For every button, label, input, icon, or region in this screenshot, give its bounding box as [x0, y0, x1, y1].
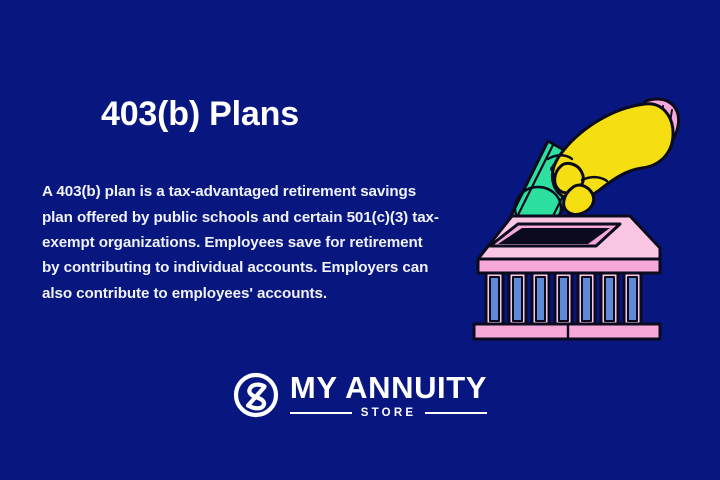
- illustration-svg: $: [460, 96, 690, 341]
- column-shaft-5: [582, 277, 591, 321]
- logo-wordmark: MY ANNUITY: [290, 372, 487, 404]
- body-paragraph: A 403(b) plan is a tax-advantaged retire…: [42, 179, 442, 306]
- logo-rule-right: [425, 412, 487, 414]
- column-shaft-2: [513, 277, 522, 321]
- logo-subtext-row: STORE: [290, 407, 487, 419]
- hand-depositing-money-illustration: $: [460, 96, 690, 341]
- column-shaft-4: [559, 277, 568, 321]
- monogram-svg: [233, 372, 279, 418]
- page-title: 403(b) Plans: [101, 97, 299, 131]
- column-shaft-7: [628, 277, 637, 321]
- column-shaft-1: [490, 277, 499, 321]
- brand-logo-lockup[interactable]: MY ANNUITY STORE: [0, 372, 720, 419]
- logo-subtext: STORE: [352, 407, 425, 419]
- hand-group: [548, 99, 679, 214]
- bank-entablature: [478, 259, 660, 273]
- logo-rule-left: [290, 412, 352, 414]
- hand-index-finger: [564, 185, 594, 214]
- my-annuity-store-monogram-icon: [233, 372, 279, 418]
- logo-text-block: MY ANNUITY STORE: [290, 372, 487, 419]
- bank-building-group: [474, 216, 660, 339]
- slide-canvas: 403(b) Plans A 403(b) plan is a tax-adva…: [0, 0, 720, 480]
- column-shaft-6: [605, 277, 614, 321]
- bank-columns: [486, 273, 641, 325]
- column-shaft-3: [536, 277, 545, 321]
